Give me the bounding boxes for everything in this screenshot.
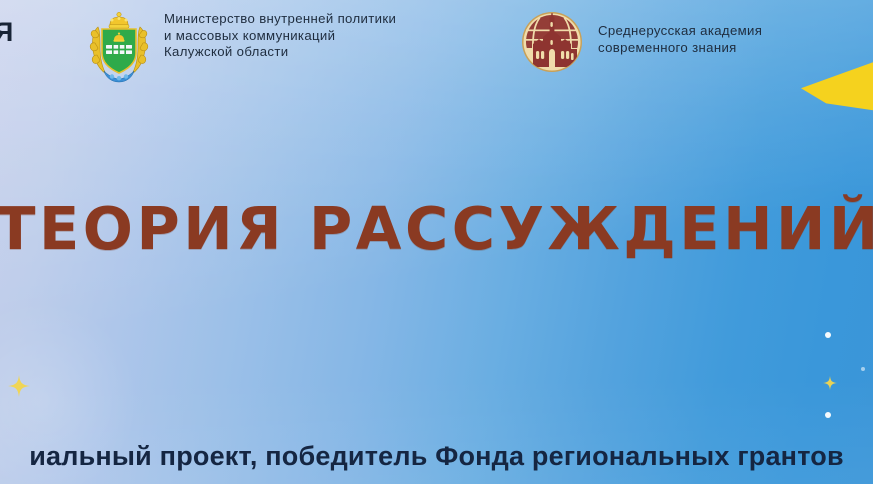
ministry-name-text: Министерство внутренней политики и массо… — [164, 11, 396, 61]
promo-banner: ИЯ — [0, 0, 873, 484]
page-title: ТЕОРИЯ РАССУЖДЕНИЙ — [0, 194, 873, 263]
organization-ministry: Министерство внутренней политики и массо… — [88, 9, 396, 83]
kaluga-coat-of-arms-icon — [88, 9, 150, 83]
ministry-line-1: Министерство внутренней политики — [164, 11, 396, 28]
sparkle-star-left-icon — [8, 375, 30, 397]
ministry-line-2: и массовых коммуникаций — [164, 28, 396, 45]
sparkle-star-right-icon — [823, 376, 837, 390]
academy-name-text: Среднерусская академия современного знан… — [598, 23, 762, 56]
page-subtitle: иальный проект, победитель Фонда региона… — [0, 441, 873, 472]
ministry-line-3: Калужской области — [164, 44, 396, 61]
white-dot-faint-icon — [861, 367, 865, 371]
academy-line-1: Среднерусская академия — [598, 23, 762, 40]
clipped-left-word: ИЯ — [0, 17, 14, 48]
banner-header: ИЯ — [0, 0, 873, 92]
academy-logo-icon — [521, 11, 583, 73]
academy-line-2: современного знания — [598, 40, 762, 57]
white-dot-lower-icon — [825, 412, 831, 418]
organization-academy: Среднерусская академия современного знан… — [521, 11, 762, 73]
white-dot-upper-icon — [825, 332, 831, 338]
